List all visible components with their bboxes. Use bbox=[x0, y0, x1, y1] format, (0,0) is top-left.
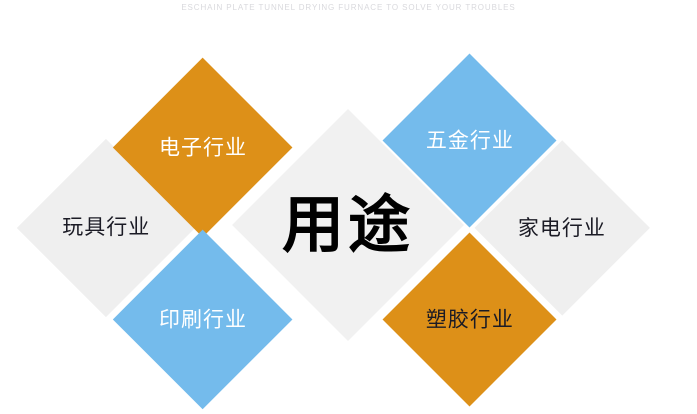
diamond-label-center-usage: 用途 bbox=[282, 194, 414, 256]
diamond-label-electronics-industry: 电子行业 bbox=[159, 137, 247, 158]
diamond-label-hardware-industry: 五金行业 bbox=[426, 130, 514, 151]
diamond-label-printing-industry: 印刷行业 bbox=[159, 309, 247, 330]
diamond-label-toy-industry: 玩具行业 bbox=[62, 217, 150, 238]
header-strapline: ESCHAIN PLATE TUNNEL DRYING FURNACE TO S… bbox=[0, 3, 697, 12]
usage-diagram-canvas: ESCHAIN PLATE TUNNEL DRYING FURNACE TO S… bbox=[0, 0, 697, 414]
diamond-label-home-appliance-industry: 家电行业 bbox=[518, 217, 606, 238]
diamond-label-plastic-industry: 塑胶行业 bbox=[426, 309, 514, 330]
